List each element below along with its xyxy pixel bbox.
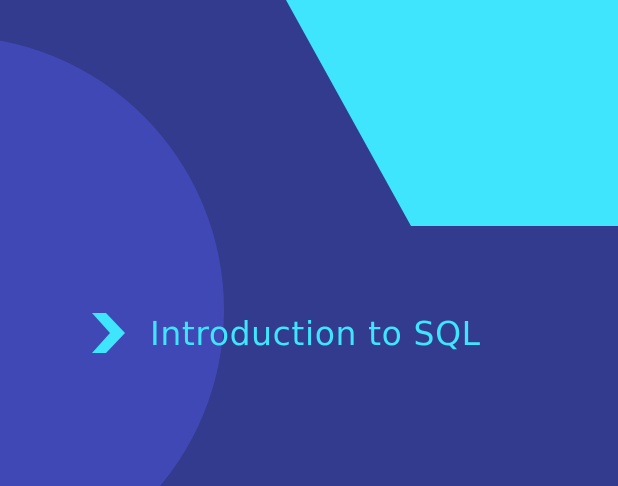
chevron-right-shape <box>92 313 125 353</box>
decorative-background <box>0 0 618 486</box>
chevron-right-glyph <box>92 313 125 353</box>
chevron-right-icon <box>92 313 125 353</box>
background-shapes-svg <box>0 0 618 486</box>
slide-title-block: Introduction to SQL <box>92 308 481 358</box>
page-title: Introduction to SQL <box>150 317 481 350</box>
slide-canvas: Introduction to SQL <box>0 0 618 486</box>
